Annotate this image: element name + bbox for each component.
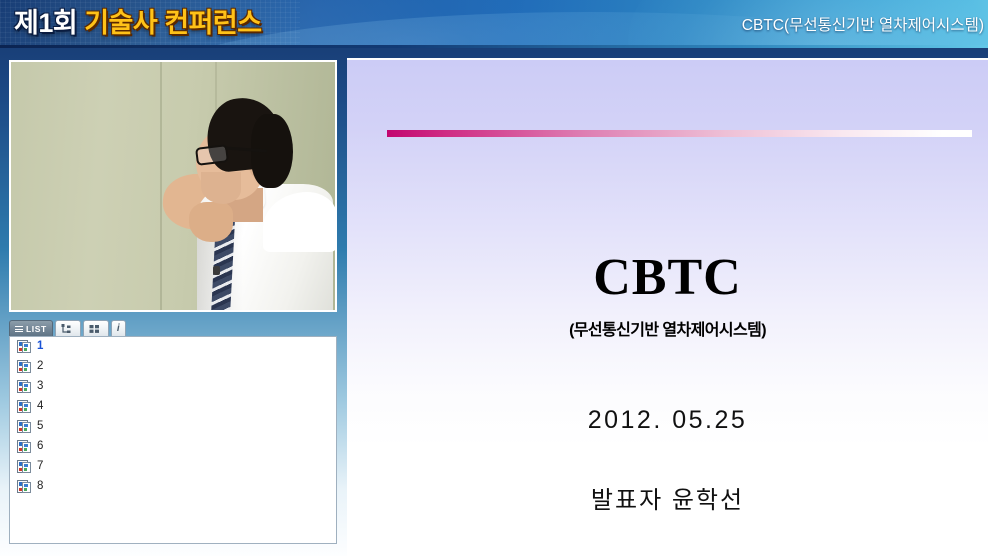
tab-list-label: LIST <box>26 325 47 334</box>
presenter-video-panel[interactable] <box>9 60 337 312</box>
list-item-label: 2 <box>37 361 43 373</box>
slide-document-icon <box>17 360 32 374</box>
tab-grid[interactable] <box>83 320 109 337</box>
slide-document-icon <box>17 380 32 394</box>
slide-subtitle: (무선통신기반 열차제어시스템) <box>347 316 988 340</box>
slide-list[interactable]: 1 2 3 4 <box>9 336 337 544</box>
header-bottom-line <box>0 45 988 48</box>
presenter-lapel-mic <box>213 266 220 275</box>
list-item[interactable]: 4 <box>10 397 336 417</box>
list-item[interactable]: 3 <box>10 377 336 397</box>
list-item[interactable]: 1 <box>10 337 336 357</box>
list-item-label: 6 <box>37 441 43 453</box>
presenter-chin <box>201 172 241 204</box>
list-item-label: 7 <box>37 461 43 473</box>
slide-list-panel: LIST <box>9 320 337 544</box>
slide-title: CBTC <box>347 252 988 304</box>
list-item-label: 1 <box>37 341 43 353</box>
header-banner: 제1회 기술사 컨퍼런스 CBTC(무선통신기반 열차제어시스템) <box>0 0 988 48</box>
slide-document-icon <box>17 440 32 454</box>
slide-document-icon <box>17 480 32 494</box>
tab-outline[interactable] <box>55 320 81 337</box>
grid-icon <box>89 324 100 334</box>
list-icon <box>15 325 23 334</box>
slide-presenter: 발표자 윤학선 <box>347 480 988 515</box>
presenter-glasses <box>195 144 229 166</box>
list-item[interactable]: 7 <box>10 457 336 477</box>
presenter-forearm <box>189 202 233 242</box>
list-item[interactable]: 6 <box>10 437 336 457</box>
tree-outline-icon <box>61 324 72 334</box>
info-icon: i <box>117 324 120 334</box>
list-item[interactable]: 8 <box>10 477 336 497</box>
list-panel-tabbar: LIST <box>9 320 337 337</box>
conference-title-name: 기술사 컨퍼런스 <box>84 8 261 38</box>
slide-document-icon <box>17 420 32 434</box>
conference-title-edition: 제1회 <box>14 8 77 38</box>
tab-info[interactable]: i <box>111 320 126 337</box>
slide-document-icon <box>17 340 32 354</box>
conference-title: 제1회 기술사 컨퍼런스 <box>14 6 262 40</box>
slide-viewer[interactable]: CBTC (무선통신기반 열차제어시스템) 2012. 05.25 발표자 윤학… <box>347 58 988 556</box>
topic-title: CBTC(무선통신기반 열차제어시스템) <box>742 13 984 35</box>
slide-document-icon <box>17 460 32 474</box>
list-item[interactable]: 5 <box>10 417 336 437</box>
slide-top-rule <box>387 130 972 137</box>
list-item-label: 5 <box>37 421 43 433</box>
wall-seam-1 <box>160 62 162 310</box>
slide-document-icon <box>17 400 32 414</box>
slide-date: 2012. 05.25 <box>347 406 988 435</box>
list-item[interactable]: 2 <box>10 357 336 377</box>
tab-list[interactable]: LIST <box>9 320 53 337</box>
list-item-label: 3 <box>37 381 43 393</box>
list-item-label: 8 <box>37 481 43 493</box>
list-item-label: 4 <box>37 401 43 413</box>
